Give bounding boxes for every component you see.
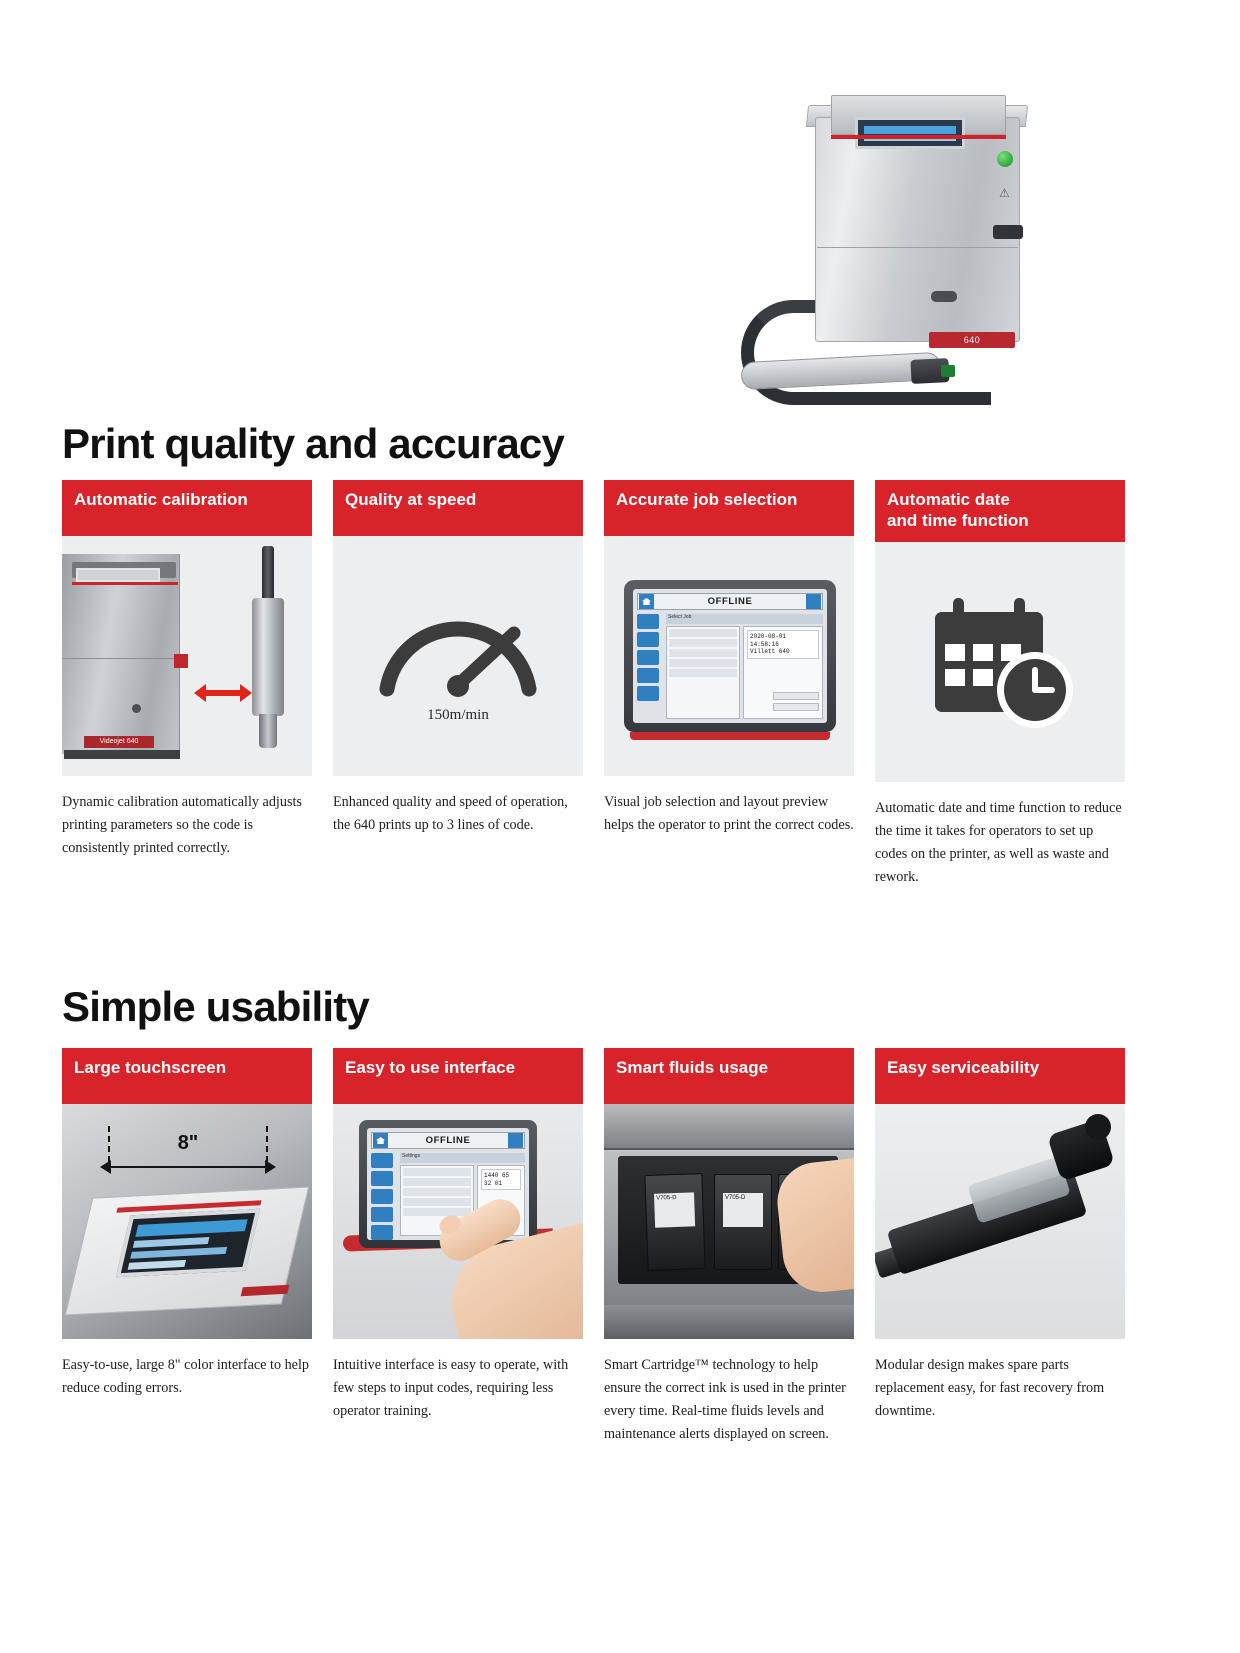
preview-line-2: Villett 640 <box>750 648 790 655</box>
color-touchscreen <box>116 1209 260 1278</box>
card-media-printhead-module <box>875 1104 1125 1339</box>
printer-cabinet <box>815 117 1020 342</box>
card-text-accurate-job-selection: Visual job selection and layout preview … <box>604 791 854 837</box>
status-badge-offline: OFFLINE <box>654 596 806 607</box>
sidebar-icon-3[interactable] <box>371 1189 393 1204</box>
dimension-value-label: 8" <box>100 1132 276 1155</box>
printhead-body <box>252 598 284 716</box>
printer-screen-small <box>76 568 160 582</box>
card-text-automatic-date-time: Automatic date and time function to redu… <box>875 797 1125 889</box>
hmi-bezel: OFFLINE Select Job <box>624 580 836 732</box>
screen-bar-4 <box>128 1260 186 1270</box>
printhead-module-photo <box>875 1104 1125 1339</box>
feature-card-large-touchscreen: Large touchscreen 8" <box>62 1048 312 1460</box>
printhead-tip <box>941 365 955 377</box>
card-media-hmi-screen: OFFLINE Select Job <box>604 536 854 776</box>
ink-cartridge-1: V705-D <box>644 1173 705 1271</box>
screen-bar-2 <box>133 1237 210 1248</box>
sidebar-icon-2[interactable] <box>371 1171 393 1186</box>
card-header-easy-to-use-interface: Easy to use interface <box>333 1048 583 1104</box>
preview-line-1: 2020-08-01 14:58:16 <box>750 633 786 648</box>
cartridge-label: V705-D <box>723 1193 763 1227</box>
sidebar-icon-1[interactable] <box>637 614 659 629</box>
hmi-breadcrumb: Select Job <box>666 614 823 624</box>
card-text-easy-to-use-interface: Intuitive interface is easy to operate, … <box>333 1354 583 1423</box>
printer-touchscreen <box>855 117 965 149</box>
card-header-automatic-calibration: Automatic calibration <box>62 480 312 536</box>
card-header-smart-fluids-usage: Smart fluids usage <box>604 1048 854 1104</box>
cartridge-label: V705-D <box>654 1192 695 1227</box>
card-header-large-touchscreen: Large touchscreen <box>62 1048 312 1104</box>
card-text-easy-serviceability: Modular design makes spare parts replace… <box>875 1354 1125 1423</box>
printer-knob <box>132 704 141 713</box>
feature-card-automatic-calibration: Automatic calibration Videojet 640 Dynam… <box>62 480 312 904</box>
ink-cartridge-2: V705-D <box>714 1174 772 1270</box>
calibration-double-arrow-icon <box>194 684 252 702</box>
card-text-quality-at-speed: Enhanced quality and speed of operation,… <box>333 791 583 837</box>
feature-card-easy-serviceability: Easy serviceability Modular design makes… <box>875 1048 1125 1460</box>
hmi-sidebar-icons[interactable] <box>637 614 663 719</box>
section-title-print-quality: Print quality and accuracy <box>62 420 564 468</box>
list-item[interactable] <box>669 649 737 657</box>
printhead-connector-ring <box>1085 1114 1111 1140</box>
feature-card-quality-at-speed: Quality at speed 150m/min Enhanced quali… <box>333 480 583 904</box>
card-text-automatic-calibration: Dynamic calibration automatically adjust… <box>62 791 312 860</box>
card-header-easy-serviceability: Easy serviceability <box>875 1048 1125 1104</box>
list-item[interactable] <box>669 659 737 667</box>
home-icon[interactable] <box>639 594 654 609</box>
settings-table-row: 1440 65 32 01 <box>481 1169 521 1190</box>
red-marker-block <box>174 654 188 668</box>
printer-red-stripe <box>72 582 178 585</box>
sidebar-icon-5[interactable] <box>637 686 659 701</box>
printer-brand-logo: 640 <box>929 332 1015 348</box>
card-media-touchscreen-photo: 8" <box>62 1104 312 1339</box>
sidebar-icon-4[interactable] <box>371 1207 393 1222</box>
feature-grid-print-quality: Automatic calibration Videojet 640 Dynam… <box>62 480 1152 904</box>
printer-door-latch <box>931 291 957 302</box>
printhead-nozzle <box>259 714 277 748</box>
printer-red-accent <box>831 135 1006 139</box>
card-text-large-touchscreen: Easy-to-use, large 8" color interface to… <box>62 1354 312 1400</box>
load-job-button[interactable] <box>773 692 819 700</box>
menu-item-line-configuration[interactable] <box>403 1198 471 1206</box>
hmi-top-bar: OFFLINE <box>637 593 823 610</box>
sidebar-icon-2[interactable] <box>637 632 659 647</box>
section-title-simple-usability: Simple usability <box>62 983 369 1031</box>
calibration-printer-photo: Videojet 640 <box>62 554 180 754</box>
screen-bar-1 <box>135 1219 247 1237</box>
dimension-line <box>108 1166 268 1168</box>
dimension-arrow-left <box>100 1160 111 1174</box>
screen-header-bar <box>864 126 956 134</box>
sidebar-icon-3[interactable] <box>637 650 659 665</box>
cabinet-base <box>604 1305 854 1339</box>
sidebar-icon-4[interactable] <box>637 668 659 683</box>
feature-card-smart-fluids-usage: Smart fluids usage V705-D V705-D V705-D … <box>604 1048 854 1460</box>
fluids-bay-photo: V705-D V705-D V705-D <box>604 1104 854 1339</box>
list-item[interactable] <box>669 669 737 677</box>
hmi-top-bar: OFFLINE <box>371 1132 525 1149</box>
grid-view-icon[interactable] <box>508 1133 523 1148</box>
dimension-arrow-right <box>265 1160 276 1174</box>
gauge-value-label: 150m/min <box>427 707 489 724</box>
hmi-red-base <box>630 732 830 740</box>
arrow-shaft <box>203 690 243 696</box>
card-header-quality-at-speed: Quality at speed <box>333 480 583 536</box>
card-media-calibration-photo: Videojet 640 <box>62 536 312 776</box>
printer-panel-seam <box>817 247 1018 248</box>
hmi-sidebar-icons[interactable] <box>371 1153 397 1236</box>
card-media-calendar-clock <box>875 542 1125 782</box>
table-row-values: 1440 65 32 01 <box>484 1172 509 1187</box>
menu-item-printhead-setup[interactable] <box>403 1208 471 1216</box>
sidebar-icon-5[interactable] <box>371 1225 393 1240</box>
printer-side-handle <box>993 225 1023 239</box>
grid-view-icon[interactable] <box>806 594 821 609</box>
printer-logo-badge: Videojet 640 <box>84 736 154 748</box>
hmi-display: OFFLINE Select Job <box>633 589 827 723</box>
arrow-right-head <box>240 684 252 702</box>
list-item[interactable] <box>669 629 737 637</box>
calendar-clock-icon <box>925 594 1075 730</box>
interface-photo: OFFLINE Settings <box>333 1104 583 1339</box>
hmi-job-list[interactable] <box>666 626 740 719</box>
card-media-ink-cartridge-photo: V705-D V705-D V705-D <box>604 1104 854 1339</box>
warning-icon: ⚠ <box>999 187 1011 199</box>
speedometer-icon <box>373 589 543 701</box>
status-badge-offline: OFFLINE <box>388 1135 508 1146</box>
card-media-speed-gauge: 150m/min <box>333 536 583 776</box>
printhead-cable-rod <box>262 546 274 606</box>
printer-door-seam <box>62 658 180 659</box>
menu-item-queue[interactable] <box>403 1178 471 1186</box>
screen-size-dimension: 8" <box>100 1126 276 1172</box>
feature-card-easy-to-use-interface: Easy to use interface OFFLINE <box>333 1048 583 1460</box>
hmi-action-buttons[interactable] <box>773 692 819 714</box>
menu-item-print-setup[interactable] <box>403 1168 471 1176</box>
power-indicator-icon <box>997 151 1013 167</box>
home-icon[interactable] <box>373 1133 388 1148</box>
hero-product-image: ⚠ 640 <box>735 95 1115 405</box>
sidebar-icon-1[interactable] <box>371 1153 393 1168</box>
copy-job-button[interactable] <box>773 703 819 711</box>
card-header-automatic-date-time: Automatic date and time function <box>875 480 1125 542</box>
menu-item-job-setup[interactable] <box>403 1188 471 1196</box>
screen-bar-3 <box>130 1247 227 1259</box>
feature-card-accurate-job-selection: Accurate job selection OFFLINE <box>604 480 854 904</box>
preview-code-text: 2020-08-01 14:58:16 Villett 640 <box>747 630 819 659</box>
feature-grid-simple-usability: Large touchscreen 8" <box>62 1048 1152 1460</box>
list-item[interactable] <box>669 639 737 647</box>
card-media-finger-interface: OFFLINE Settings <box>333 1104 583 1339</box>
printer-base-foot <box>64 750 180 759</box>
hmi-breadcrumb: Settings <box>400 1153 525 1163</box>
card-header-accurate-job-selection: Accurate job selection <box>604 480 854 536</box>
printer-door-open <box>604 1104 854 1150</box>
card-text-smart-fluids-usage: Smart Cartridge™ technology to help ensu… <box>604 1354 854 1446</box>
touchscreen-photo: 8" <box>62 1104 312 1339</box>
hmi-preview-panel: 2020-08-01 14:58:16 Villett 640 <box>743 626 823 719</box>
feature-card-automatic-date-time: Automatic date and time function <box>875 480 1125 904</box>
